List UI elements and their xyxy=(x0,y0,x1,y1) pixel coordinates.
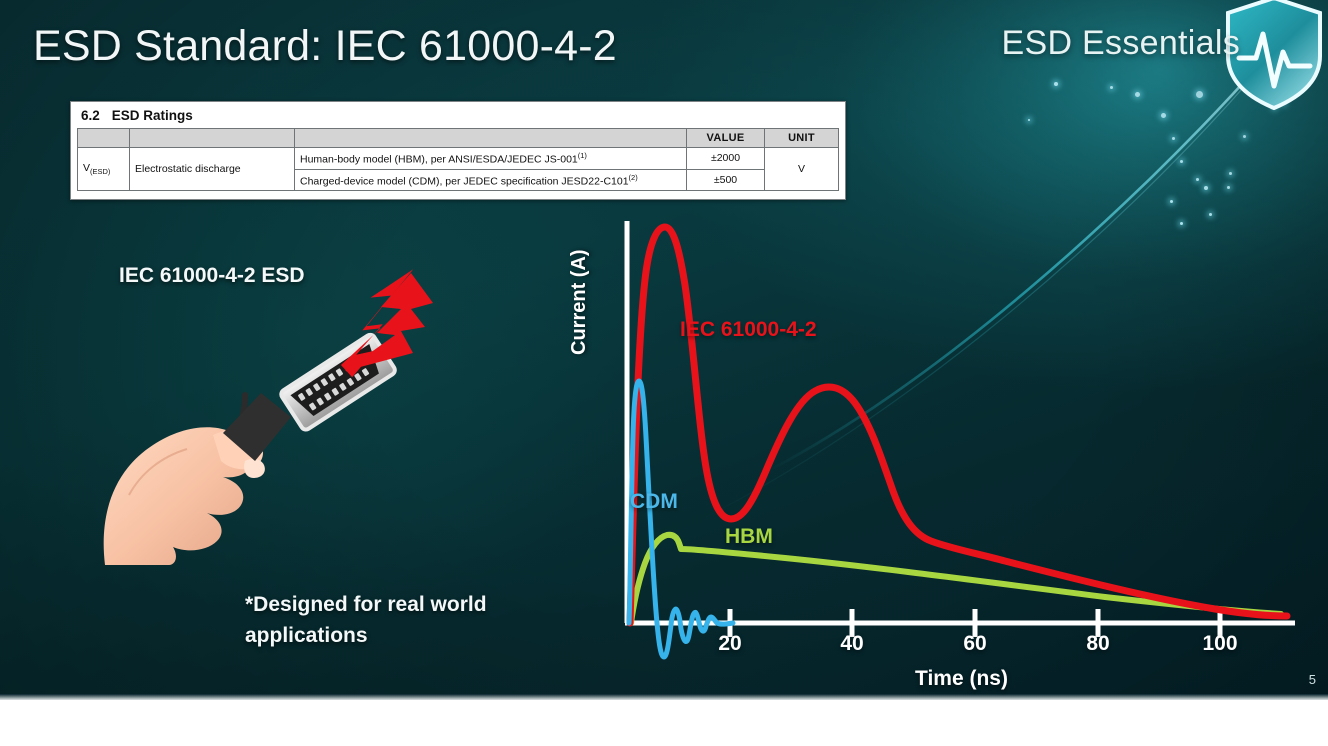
header-value: VALUE xyxy=(687,129,765,148)
series-cdm-line xyxy=(629,381,733,657)
cell-symbol: V(ESD) xyxy=(78,148,130,191)
page-number: 5 xyxy=(1309,672,1316,687)
table-header-row: VALUE UNIT xyxy=(78,129,839,148)
hand-holding-hdmi-connector-illustration xyxy=(95,265,435,565)
particle xyxy=(1229,172,1232,175)
particle xyxy=(1135,92,1140,97)
chart-plot-area xyxy=(575,205,1310,700)
header-symbol xyxy=(78,129,130,148)
y-axis-label: Current (A) xyxy=(568,249,591,355)
x-tick-label: 40 xyxy=(840,632,863,656)
designed-note: *Designed for real world applications xyxy=(245,589,575,651)
particle xyxy=(1227,186,1230,189)
esd-waveform-chart: Current (A) Time (ns) xyxy=(575,205,1310,700)
particle xyxy=(1243,135,1246,138)
table-caption: 6.2ESD Ratings xyxy=(77,106,839,128)
x-tick-label: 20 xyxy=(718,632,741,656)
particle xyxy=(1180,160,1183,163)
symbol-main: V xyxy=(83,162,90,174)
particle xyxy=(1196,91,1203,98)
series-annotation-hbm: HBM xyxy=(725,525,773,549)
header-unit: UNIT xyxy=(765,129,839,148)
cell-parameter: Electrostatic discharge xyxy=(130,148,295,191)
x-tick-label: 60 xyxy=(963,632,986,656)
footnote-cdm: (2) xyxy=(629,173,638,182)
particle xyxy=(1110,86,1113,89)
header-description xyxy=(295,129,687,148)
particle xyxy=(1054,82,1058,86)
slide-footer: TEXAS INSTRUMENTS xyxy=(0,700,1328,746)
x-axis-label: Time (ns) xyxy=(915,667,1008,691)
footnote-hbm: (1) xyxy=(578,151,587,160)
table-header: VALUE UNIT xyxy=(78,129,839,148)
slide-root: ESD Standard: IEC 61000-4-2 ESD Essentia… xyxy=(0,0,1328,746)
x-tick-label: 100 xyxy=(1202,632,1237,656)
slide-canvas: ESD Standard: IEC 61000-4-2 ESD Essentia… xyxy=(0,0,1328,700)
cell-description-cdm: Charged-device model (CDM), per JEDEC sp… xyxy=(295,169,687,191)
particle xyxy=(1204,186,1208,190)
page-title: ESD Standard: IEC 61000-4-2 xyxy=(33,22,617,71)
particle xyxy=(1196,178,1199,181)
series-annotation-cdm: CDM xyxy=(630,490,678,514)
series-annotation-iec: IEC 61000-4-2 xyxy=(680,318,817,342)
header-parameter xyxy=(130,129,295,148)
table-caption-number: 6.2 xyxy=(81,108,100,123)
particle xyxy=(1028,119,1030,121)
cell-description-hbm: Human-body model (HBM), per ANSI/ESDA/JE… xyxy=(295,148,687,170)
table-body: V(ESD) Electrostatic discharge Human-bod… xyxy=(78,148,839,191)
description-text-cdm: Charged-device model (CDM), per JEDEC sp… xyxy=(300,175,629,187)
x-tick-label: 80 xyxy=(1086,632,1109,656)
particle xyxy=(1172,137,1175,140)
series-eyebrow-title: ESD Essentials xyxy=(1001,24,1240,63)
cell-value-cdm: ±500 xyxy=(687,169,765,191)
particle xyxy=(1161,113,1166,118)
description-text-hbm: Human-body model (HBM), per ANSI/ESDA/JE… xyxy=(300,154,578,166)
table-caption-text: ESD Ratings xyxy=(112,108,193,123)
symbol-subscript: (ESD) xyxy=(90,167,110,176)
cell-unit: V xyxy=(765,148,839,191)
cell-value-hbm: ±2000 xyxy=(687,148,765,170)
particle xyxy=(1170,200,1173,203)
esd-ratings-table: 6.2ESD Ratings VALUE UNIT V(ESD) Electr xyxy=(70,101,846,200)
table-row: V(ESD) Electrostatic discharge Human-bod… xyxy=(78,148,839,170)
ratings-table: VALUE UNIT V(ESD) Electrostatic discharg… xyxy=(77,128,839,191)
series-iec-line xyxy=(630,227,1287,623)
